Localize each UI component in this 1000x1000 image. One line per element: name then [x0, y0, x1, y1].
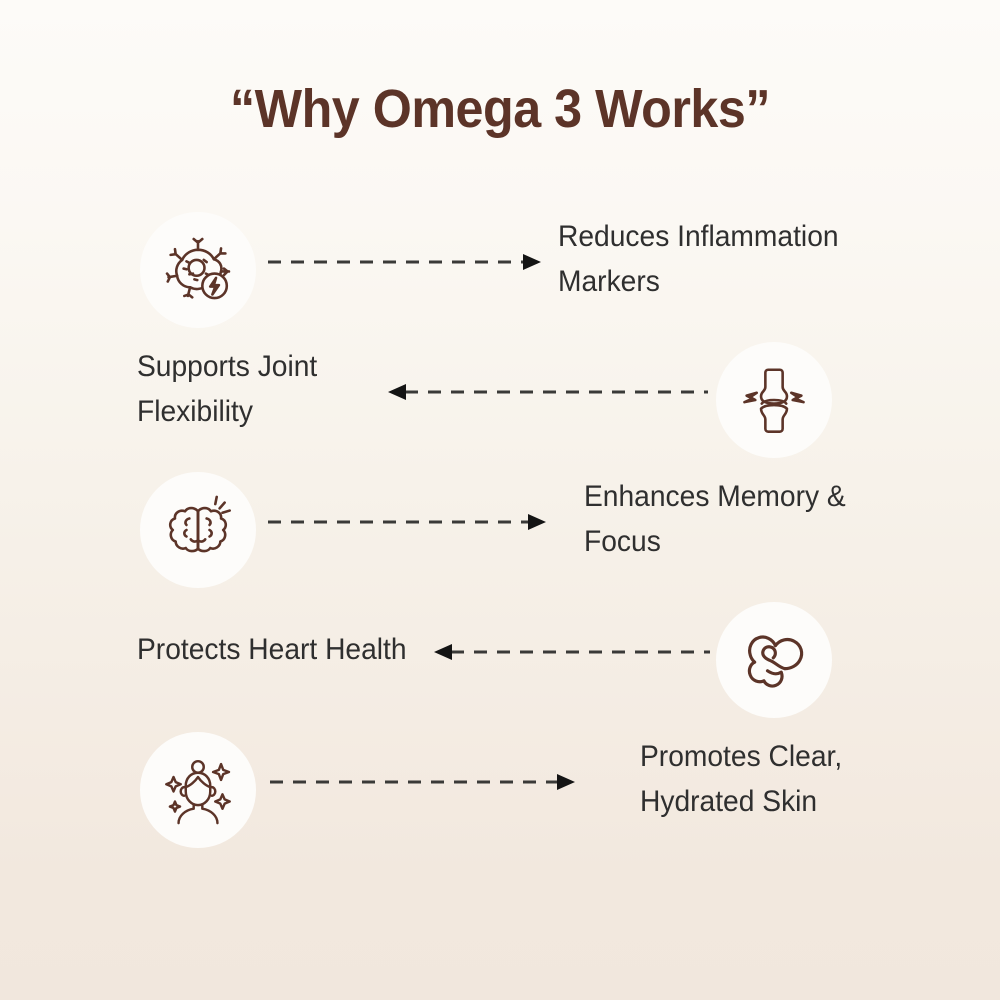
icon-circle-brain: [140, 472, 256, 588]
arrow-to-promotes-clear-hydrated-skin: [270, 772, 582, 812]
arrow-to-enhances-memory-and-focus: [268, 512, 553, 552]
arrow-to-reduces-inflammation-markers: [268, 252, 548, 292]
benefit-row-protects-heart-health: Protects Heart Health: [0, 590, 1000, 730]
icon-circle-heart: [716, 602, 832, 718]
brain-icon: [162, 494, 234, 566]
arrow-to-supports-joint-flexibility: [386, 382, 708, 422]
benefit-label-reduces-inflammation-markers: Reduces Inflammation Markers: [558, 214, 868, 304]
glowing-face-icon: [162, 754, 234, 826]
inflamed-cell-icon: [162, 234, 234, 306]
arrow-to-protects-heart-health: [432, 642, 710, 682]
benefit-row-supports-joint-flexibility: Supports Joint Flexibility: [0, 330, 1000, 470]
benefit-row-promotes-clear-hydrated-skin: Promotes Clear, Hydrated Skin: [0, 720, 1000, 860]
icon-circle-glowing-face: [140, 732, 256, 848]
benefit-row-reduces-inflammation-markers: Reduces Inflammation Markers: [0, 200, 1000, 340]
icon-circle-knee-joint: [716, 342, 832, 458]
omega3-benefits-infographic: “Why Omega 3 Works” R: [0, 0, 1000, 1000]
benefit-label-promotes-clear-hydrated-skin: Promotes Clear, Hydrated Skin: [640, 734, 950, 824]
heart-icon: [738, 624, 810, 696]
benefit-row-enhances-memory-and-focus: Enhances Memory & Focus: [0, 460, 1000, 600]
benefit-label-enhances-memory-and-focus: Enhances Memory & Focus: [584, 474, 894, 564]
benefit-label-protects-heart-health: Protects Heart Health: [137, 627, 447, 672]
icon-circle-inflamed-cell: [140, 212, 256, 328]
page-title: “Why Omega 3 Works”: [35, 78, 965, 140]
knee-joint-icon: [738, 364, 810, 436]
